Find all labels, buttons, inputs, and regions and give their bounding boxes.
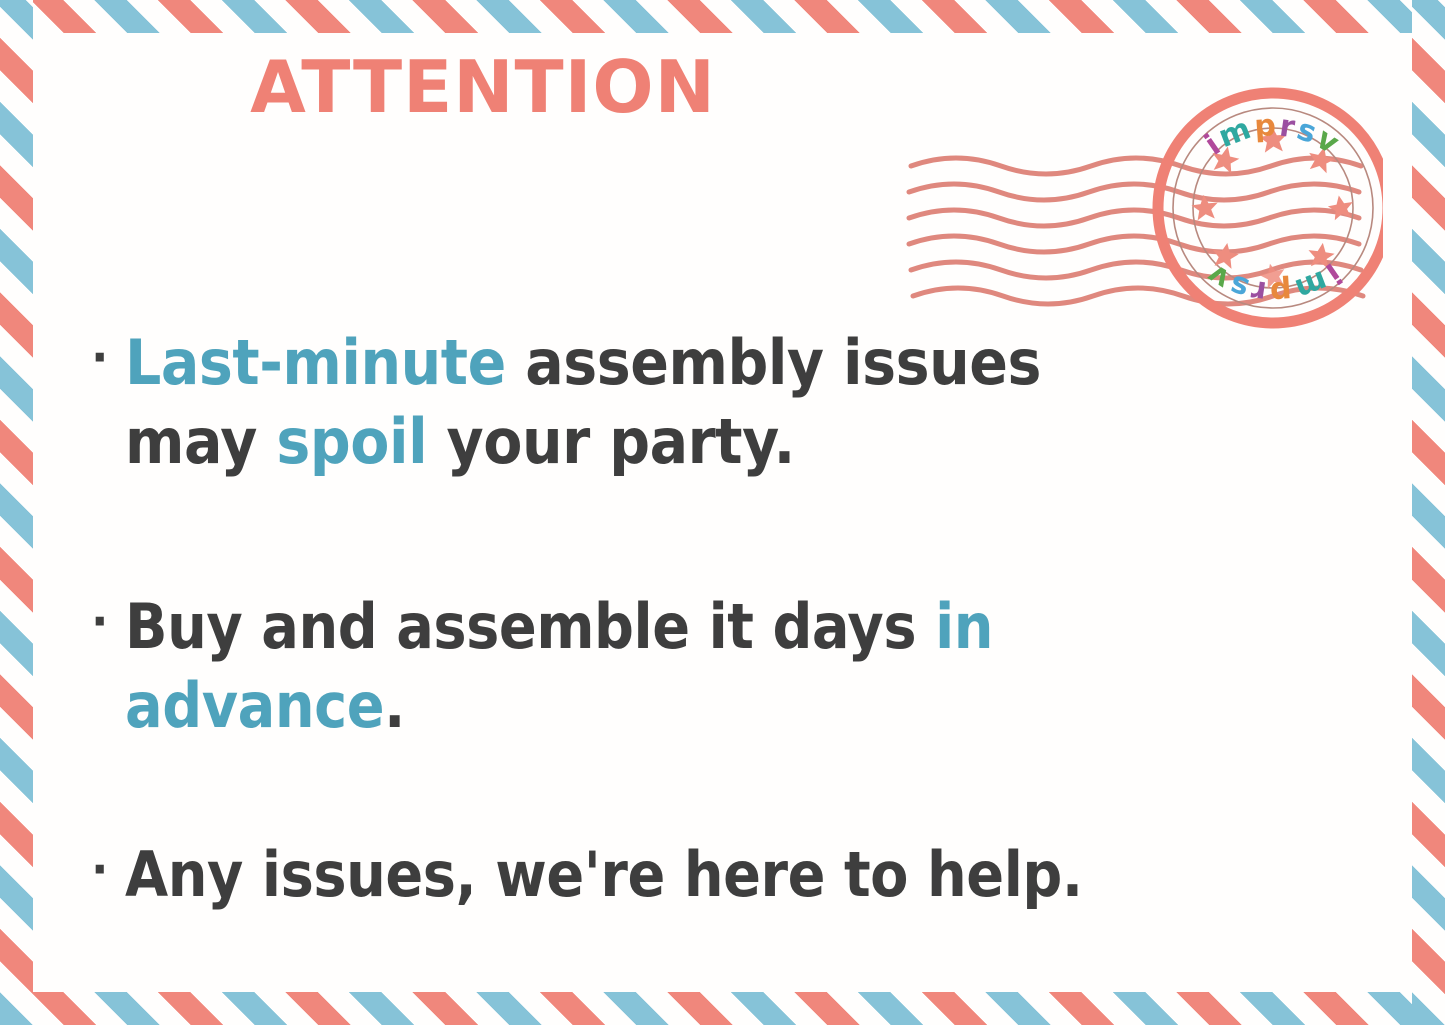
bullet-2-part-1: Buy and assemble it days <box>125 590 935 663</box>
airmail-border-top <box>0 0 1445 33</box>
bullet-marker-icon: · <box>91 835 125 904</box>
highlight-last-minute: Last-minute <box>125 326 506 399</box>
bullet-2-part-3: . <box>384 669 405 742</box>
bullet-marker-icon: · <box>91 323 125 392</box>
page-title: ATTENTION <box>33 51 933 123</box>
airmail-border-left <box>0 0 33 1025</box>
list-item: · Any issues, we're here to help. <box>91 835 1411 914</box>
list-item-text: Any issues, we're here to help. <box>125 835 1282 914</box>
bullet-1-part-2: assembly issues <box>506 326 1041 399</box>
bullet-1-part-3: may <box>125 405 276 478</box>
list-item-text: Last-minute assembly issues may spoil yo… <box>125 323 1308 482</box>
airmail-border-right <box>1412 0 1445 1025</box>
list-item: · Last-minute assembly issues may spoil … <box>91 323 1411 482</box>
airmail-border-bottom <box>0 992 1445 1025</box>
notice-card: ATTENTION <box>0 0 1445 1025</box>
highlight-spoil: spoil <box>276 405 427 478</box>
list-item: · Buy and assemble it days in advance. <box>91 587 1411 746</box>
stamp-brand-text-top: imprsv <box>1198 108 1346 162</box>
bullet-3-part-1: Any issues, we're here to help. <box>125 838 1083 911</box>
bullet-1-part-5: your party. <box>427 405 795 478</box>
bullet-marker-icon: · <box>91 587 125 656</box>
card-content: ATTENTION <box>33 33 1412 992</box>
list-item-text: Buy and assemble it days in advance. <box>125 587 1282 746</box>
bullet-list: · Last-minute assembly issues may spoil … <box>91 323 1411 915</box>
postmark-stamp: imprsv imprsv <box>903 48 1383 348</box>
